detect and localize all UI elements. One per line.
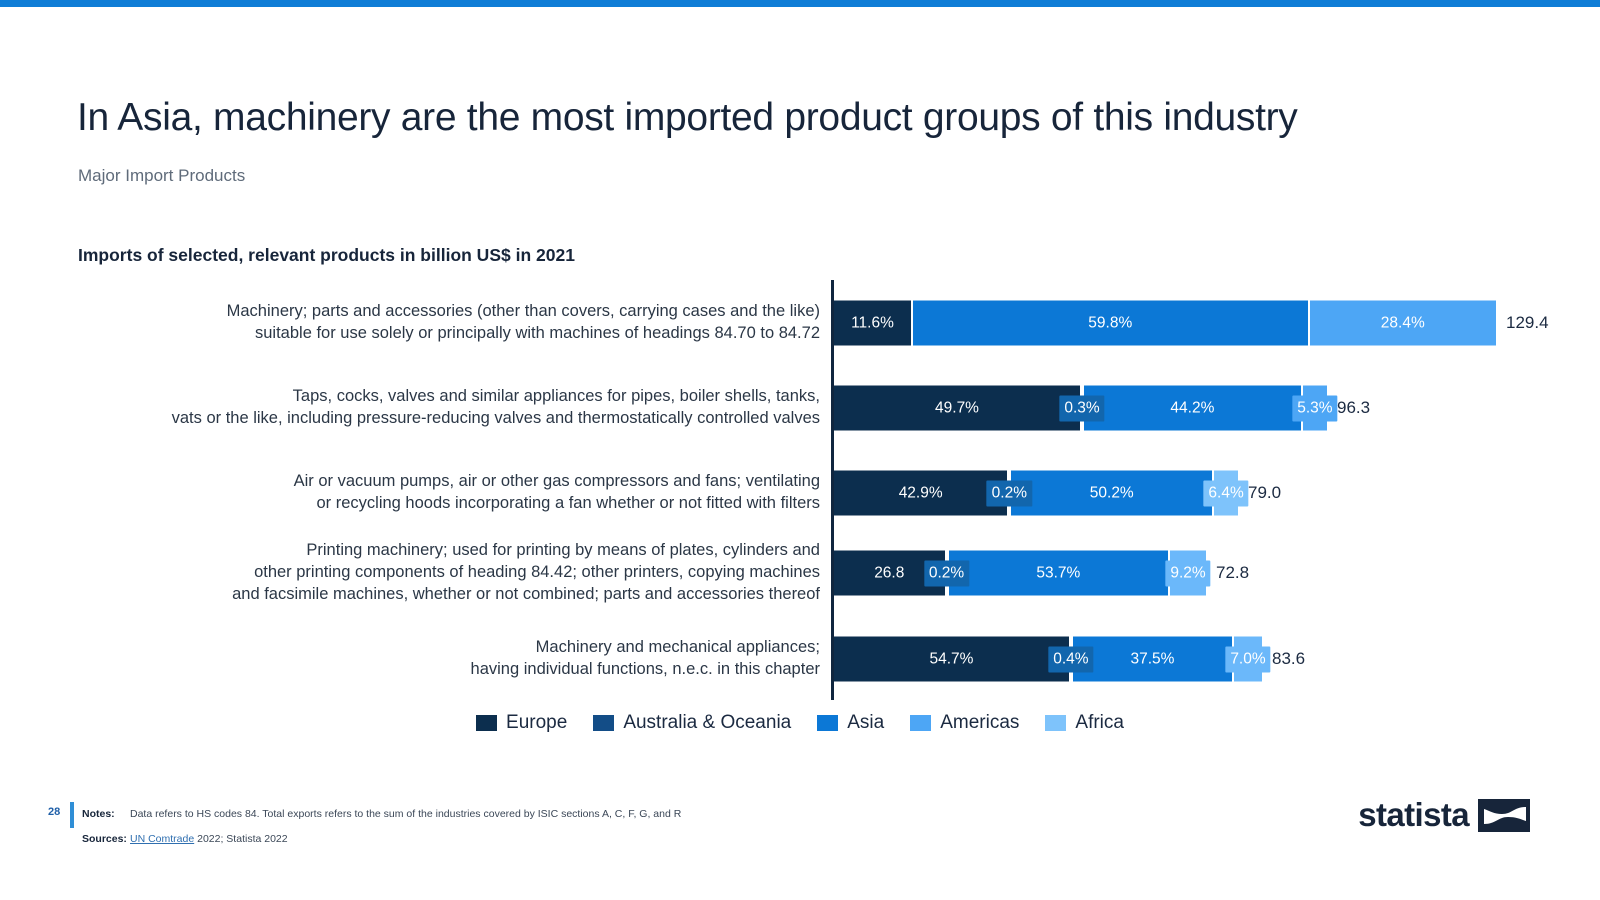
row-category-label: Taps, cocks, valves and similar applianc… — [78, 386, 820, 430]
legend-swatch-icon — [476, 715, 497, 731]
un-comtrade-link[interactable]: UN Comtrade — [130, 833, 194, 845]
stacked-bar[interactable]: 11.6%59.8%28.4% — [834, 301, 1496, 346]
bar-segment-label: 50.2% — [1087, 482, 1137, 504]
bar-segment[interactable]: 7.0% — [1232, 637, 1262, 682]
legend-label: Africa — [1075, 712, 1124, 734]
footer-sources-row: Sources: UN Comtrade 2022; Statista 2022 — [82, 833, 288, 845]
legend-swatch-icon — [910, 715, 931, 731]
row-category-label: Machinery; parts and accessories (other … — [78, 301, 820, 345]
bar-segment[interactable]: 54.7% — [834, 637, 1069, 682]
statista-wordmark: statista — [1358, 796, 1469, 834]
bar-segment[interactable]: 11.6% — [834, 301, 911, 346]
stacked-bar[interactable]: 26.80.2%53.7%9.2% — [834, 551, 1206, 596]
bar-segment[interactable]: 49.7% — [834, 386, 1080, 431]
slide-root: In Asia, machinery are the most imported… — [0, 0, 1600, 900]
footer-sources-rest: 2022; Statista 2022 — [197, 833, 288, 845]
bar-segment-label: 28.4% — [1378, 312, 1428, 334]
legend-item[interactable]: Americas — [910, 712, 1019, 734]
legend-item[interactable]: Africa — [1045, 712, 1124, 734]
slide-footer: 28 Notes: Data refers to HS codes 84. To… — [0, 800, 1600, 880]
row-total-label: 96.3 — [1337, 398, 1370, 418]
bar-segment-label: 9.2% — [1165, 560, 1210, 586]
legend-label: Australia & Oceania — [623, 712, 791, 734]
row-category-label: Printing machinery; used for printing by… — [78, 540, 820, 606]
bar-segment-label: 11.6% — [848, 312, 897, 334]
stacked-bar[interactable]: 42.9%0.2%50.2%6.4% — [834, 471, 1238, 516]
row-total-label: 129.4 — [1506, 313, 1549, 333]
bar-segment-label: 44.2% — [1167, 397, 1217, 419]
chart-plot-area: Machinery; parts and accessories (other … — [78, 280, 1528, 700]
legend-item[interactable]: Europe — [476, 712, 567, 734]
bar-segment[interactable]: 9.2% — [1168, 551, 1206, 596]
footer-notes-row: Notes: Data refers to HS codes 84. Total… — [82, 808, 681, 820]
bar-segment-label: 54.7% — [926, 648, 976, 670]
row-total-label: 83.6 — [1272, 649, 1305, 669]
statista-logo-mark — [1478, 799, 1530, 832]
bar-segment[interactable]: 53.7% — [947, 551, 1169, 596]
bar-segment[interactable]: 28.4% — [1308, 301, 1496, 346]
bar-segment[interactable]: 37.5% — [1071, 637, 1232, 682]
footer-sources-key: Sources: — [82, 833, 130, 845]
bar-segment-label: 7.0% — [1225, 646, 1270, 672]
legend-swatch-icon — [817, 715, 838, 731]
bar-segment-label: 6.4% — [1203, 480, 1248, 506]
legend-swatch-icon — [1045, 715, 1066, 731]
bar-segment-label: 37.5% — [1127, 648, 1177, 670]
chart-heading: Imports of selected, relevant products i… — [78, 245, 575, 266]
bar-segment-label: 5.3% — [1292, 395, 1337, 421]
footer-rule — [70, 802, 74, 828]
legend-label: Europe — [506, 712, 567, 734]
legend-swatch-icon — [593, 715, 614, 731]
bar-segment-label: 59.8% — [1085, 312, 1135, 334]
bar-segment[interactable]: 59.8% — [911, 301, 1308, 346]
page-title: In Asia, machinery are the most imported… — [77, 96, 1497, 140]
bar-segment[interactable]: 44.2% — [1082, 386, 1301, 431]
row-total-label: 79.0 — [1248, 483, 1281, 503]
chart-row: Taps, cocks, valves and similar applianc… — [78, 377, 1528, 439]
legend-label: Americas — [940, 712, 1019, 734]
row-category-label: Air or vacuum pumps, air or other gas co… — [78, 471, 820, 515]
chart-legend: EuropeAustralia & OceaniaAsiaAmericasAfr… — [0, 712, 1600, 734]
statista-logo: statista — [1358, 796, 1530, 834]
chart-row: Machinery and mechanical appliances;havi… — [78, 628, 1528, 690]
bar-segment[interactable]: 42.9% — [834, 471, 1007, 516]
page-subtitle: Major Import Products — [78, 166, 245, 186]
bar-segment-label: 53.7% — [1033, 562, 1083, 584]
legend-item[interactable]: Asia — [817, 712, 884, 734]
stacked-bar[interactable]: 54.7%0.4%37.5%7.0% — [834, 637, 1262, 682]
chart-row: Air or vacuum pumps, air or other gas co… — [78, 462, 1528, 524]
bar-segment-label: 0.4% — [1048, 646, 1093, 672]
footer-notes-key: Notes: — [82, 808, 130, 820]
row-category-label: Machinery and mechanical appliances;havi… — [78, 637, 820, 681]
bar-segment[interactable]: 6.4% — [1212, 471, 1238, 516]
bar-segment-label: 42.9% — [896, 482, 946, 504]
legend-item[interactable]: Australia & Oceania — [593, 712, 791, 734]
chart-row: Machinery; parts and accessories (other … — [78, 292, 1528, 354]
bar-segment-label: 0.2% — [987, 480, 1032, 506]
page-number: 28 — [48, 806, 60, 818]
bar-segment-label: 0.2% — [924, 560, 969, 586]
stacked-bar[interactable]: 49.7%0.3%44.2%5.3% — [834, 386, 1327, 431]
bar-segment-label: 0.3% — [1059, 395, 1104, 421]
bar-segment[interactable]: 50.2% — [1009, 471, 1212, 516]
row-total-label: 72.8 — [1216, 563, 1249, 583]
footer-sources-value: UN Comtrade 2022; Statista 2022 — [130, 833, 288, 845]
top-accent-bar — [0, 0, 1600, 7]
bar-segment-label: 26.8 — [871, 562, 907, 584]
legend-label: Asia — [847, 712, 884, 734]
bar-segment[interactable]: 5.3% — [1301, 386, 1327, 431]
bar-segment-label: 49.7% — [932, 397, 982, 419]
chart-row: Printing machinery; used for printing by… — [78, 542, 1528, 604]
footer-notes-value: Data refers to HS codes 84. Total export… — [130, 808, 681, 820]
